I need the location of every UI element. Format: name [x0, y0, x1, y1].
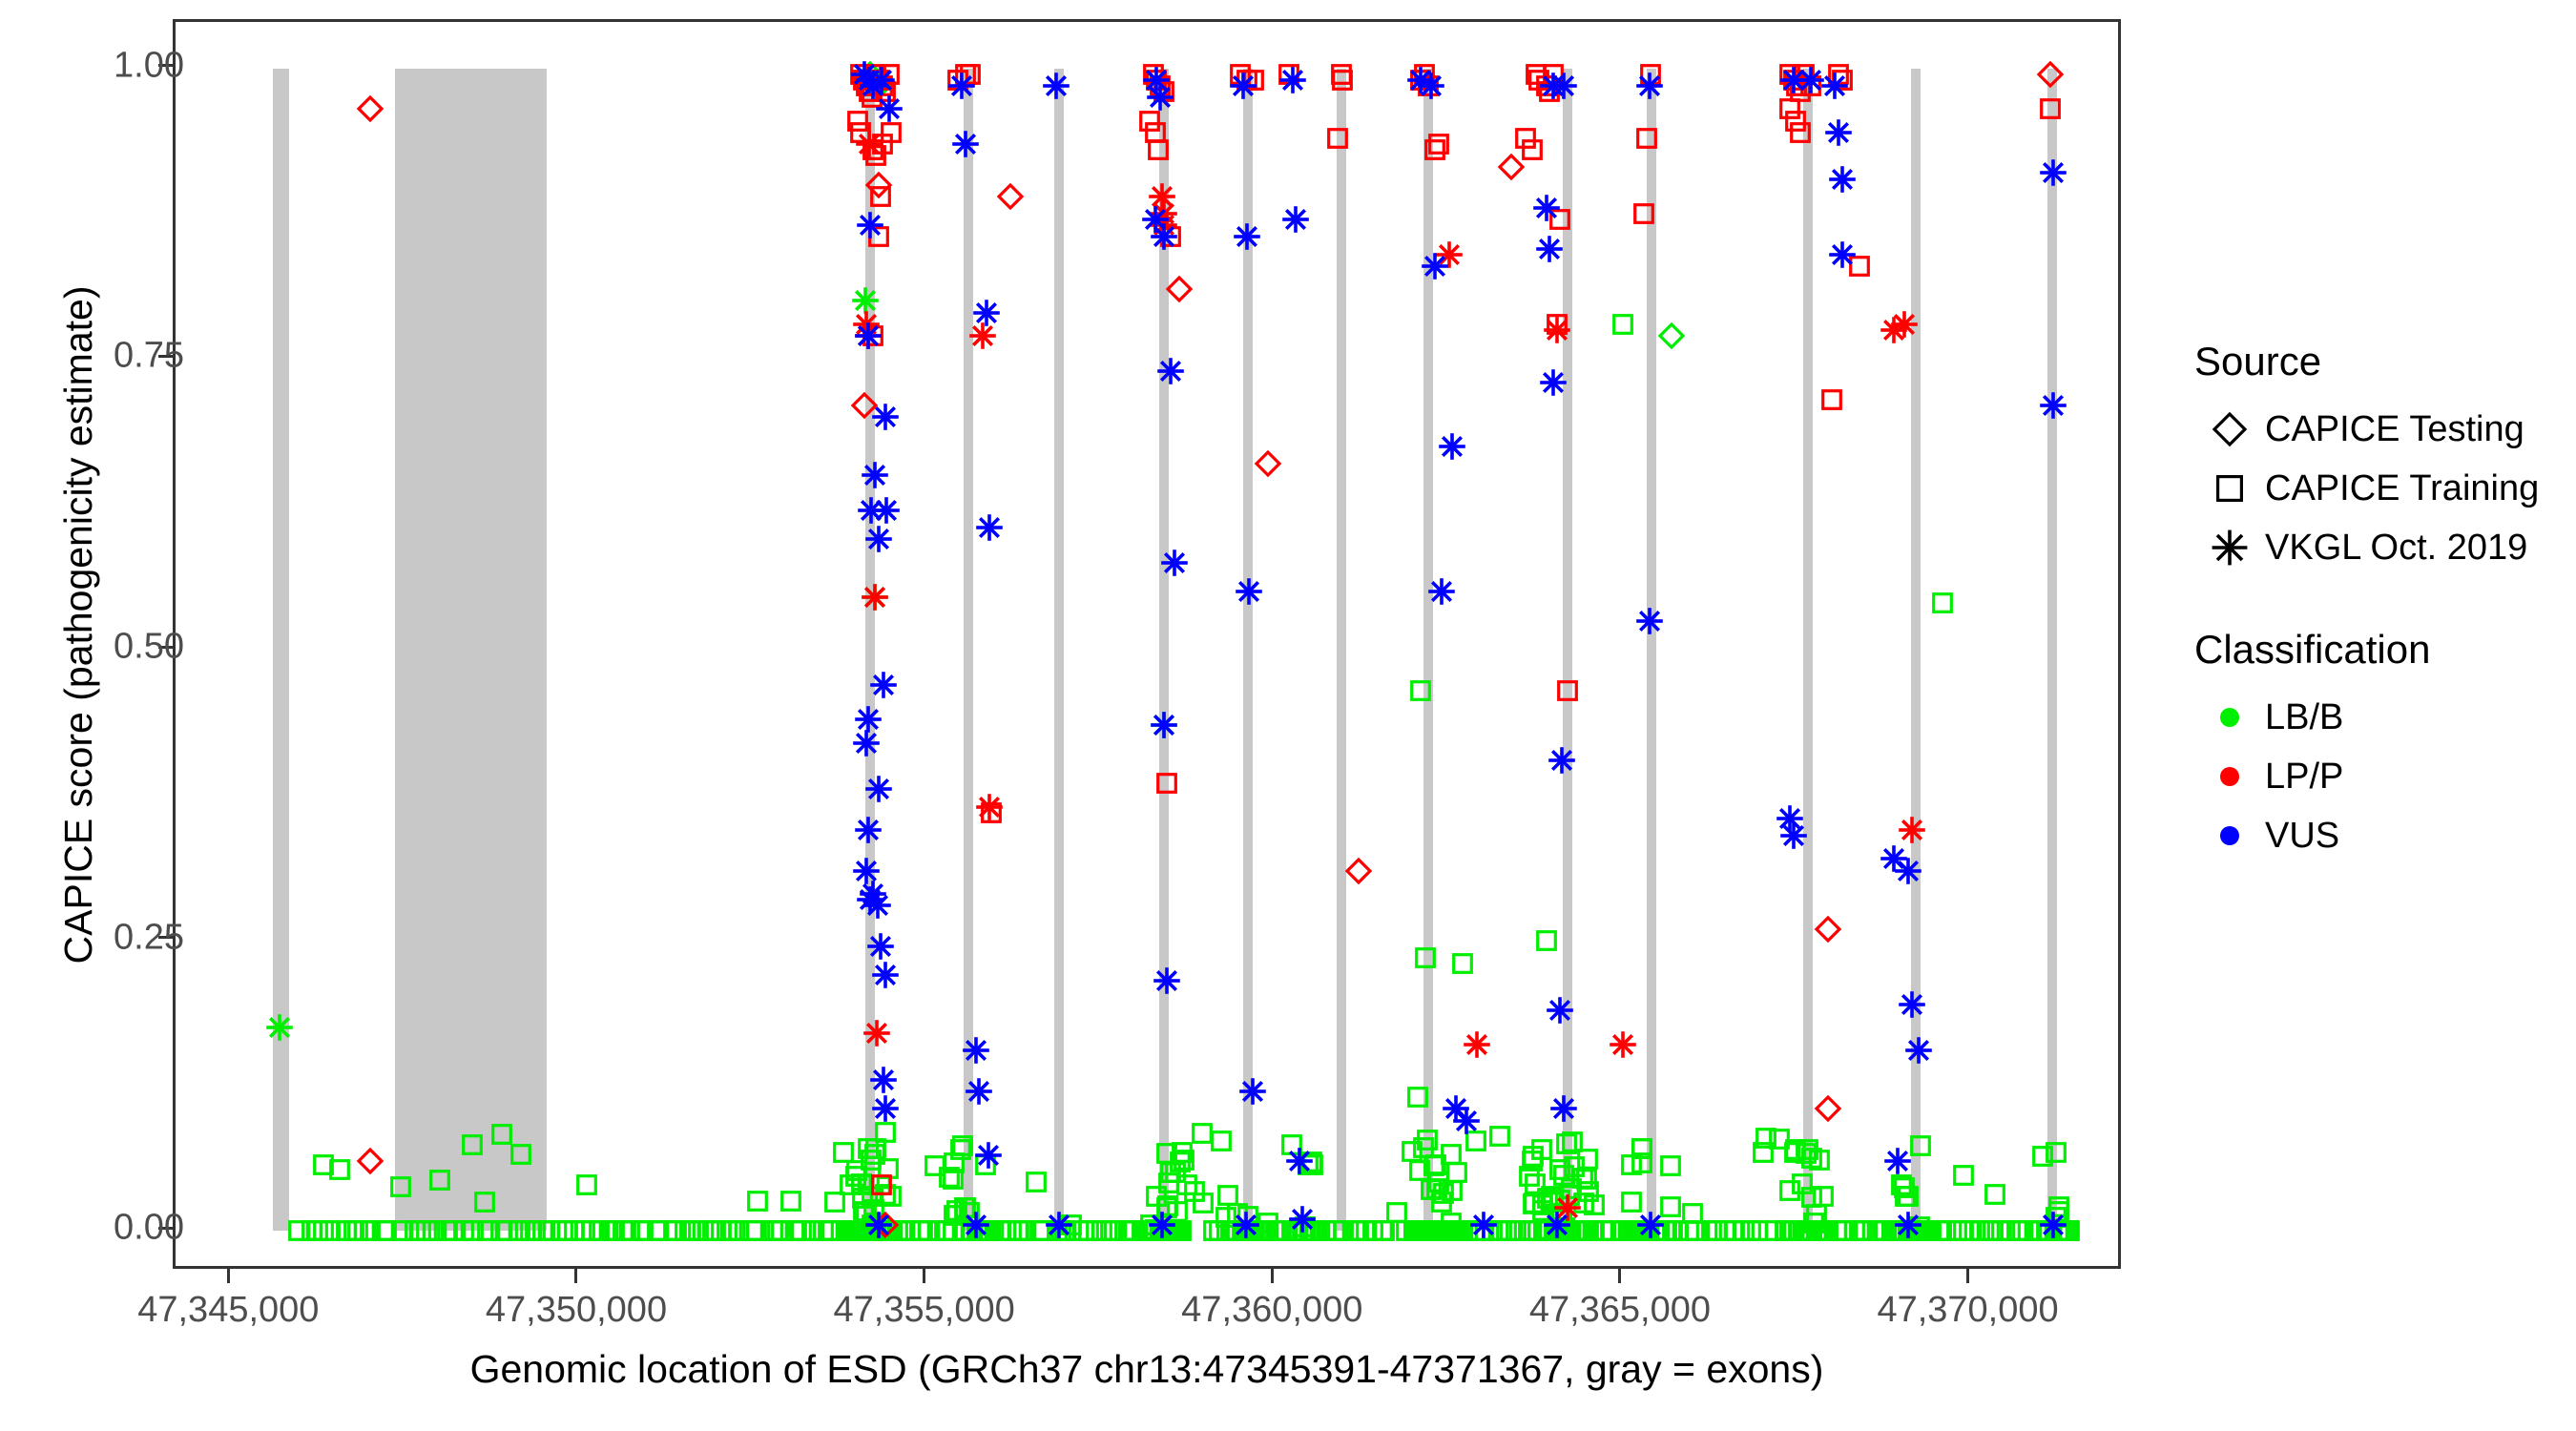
data-point — [1212, 1203, 1240, 1232]
data-point — [974, 1141, 1003, 1170]
data-point — [1291, 1216, 1319, 1245]
data-point — [1720, 1216, 1749, 1245]
data-point — [1537, 1188, 1566, 1216]
data-point — [325, 1155, 354, 1184]
data-point — [1658, 1216, 1687, 1245]
data-point — [1463, 1030, 1491, 1059]
y-tick-label: 0.50 — [0, 627, 184, 668]
data-point — [662, 1216, 691, 1245]
data-point — [1298, 1151, 1327, 1179]
data-point — [1344, 857, 1373, 885]
data-point — [1848, 1216, 1877, 1245]
data-point — [1881, 1216, 1910, 1245]
data-point — [1296, 1216, 1324, 1245]
exon-band — [865, 69, 875, 1232]
data-point — [1869, 1216, 1898, 1245]
data-point — [701, 1216, 730, 1245]
data-point — [343, 1216, 372, 1245]
data-point — [1444, 1216, 1473, 1245]
data-point — [1949, 1216, 1978, 1245]
data-point — [1443, 1158, 1471, 1187]
data-point — [356, 1216, 384, 1245]
data-point — [303, 1216, 332, 1245]
data-point — [1253, 1216, 1281, 1245]
data-point — [976, 1216, 1005, 1245]
data-point — [821, 1188, 849, 1216]
data-point — [1569, 1189, 1598, 1217]
data-point — [1814, 915, 1842, 944]
data-point — [1167, 1216, 1195, 1245]
data-point — [1100, 1216, 1129, 1245]
data-point — [872, 1216, 901, 1245]
data-point — [777, 1187, 805, 1215]
data-point — [905, 1216, 934, 1245]
data-point — [1132, 1216, 1160, 1245]
data-point — [1568, 1164, 1597, 1192]
data-point — [877, 118, 905, 147]
data-point — [1452, 1107, 1481, 1135]
exon-band — [964, 69, 973, 1232]
data-point — [871, 403, 900, 431]
data-point — [1761, 1216, 1790, 1245]
data-point — [1532, 194, 1561, 222]
legend-group-classification: Classification LB/BLP/PVUS — [2194, 627, 2576, 865]
data-point — [1009, 1216, 1038, 1245]
data-point — [1532, 1216, 1561, 1245]
data-point — [1530, 1216, 1559, 1245]
data-point — [1573, 1216, 1602, 1245]
data-point — [1809, 1216, 1838, 1245]
x-tick-label: 47,360,000 — [1181, 1290, 1362, 1331]
data-point — [1088, 1216, 1116, 1245]
data-point — [1533, 1216, 1562, 1245]
data-point — [1532, 926, 1561, 955]
data-point — [1514, 1216, 1543, 1245]
data-point — [1514, 1216, 1543, 1245]
data-point — [1278, 66, 1307, 94]
data-point — [871, 1211, 900, 1239]
data-point — [1572, 1216, 1601, 1245]
data-point — [1502, 1216, 1530, 1245]
data-point — [2003, 1216, 2031, 1245]
data-point — [1207, 1127, 1236, 1155]
data-point — [1435, 1216, 1464, 1245]
legend-item-label: LB/B — [2265, 697, 2343, 738]
data-point — [1568, 1216, 1597, 1245]
data-point — [872, 1216, 901, 1245]
data-point — [1736, 1216, 1765, 1245]
data-point — [1814, 1216, 1842, 1245]
data-point — [1743, 1216, 1772, 1245]
data-point — [1288, 1205, 1317, 1234]
data-point — [1682, 1216, 1711, 1245]
data-point — [1170, 1146, 1198, 1174]
data-point — [1809, 1182, 1838, 1211]
data-point — [1466, 1216, 1495, 1245]
legend-item-label: CAPICE Training — [2265, 468, 2539, 509]
exon-band — [1563, 69, 1572, 1232]
data-point — [1697, 1216, 1726, 1245]
data-point — [609, 1216, 637, 1245]
data-point — [1765, 1125, 1794, 1153]
legend-item[interactable]: LB/B — [2194, 688, 2576, 747]
data-point — [553, 1216, 582, 1245]
data-point — [908, 1216, 937, 1245]
data-point — [1618, 1216, 1647, 1245]
data-point — [2008, 1216, 2037, 1245]
data-point — [1979, 1216, 2007, 1245]
data-point — [1965, 1216, 1994, 1245]
data-point — [1829, 1216, 1858, 1245]
data-point — [875, 1216, 904, 1245]
data-point — [1822, 1216, 1851, 1245]
data-point — [1514, 1216, 1543, 1245]
data-point — [298, 1216, 326, 1245]
data-point — [1478, 1216, 1506, 1245]
data-point — [1530, 1216, 1559, 1245]
data-point — [914, 1216, 943, 1245]
data-point — [742, 1216, 771, 1245]
data-point — [1752, 1124, 1780, 1152]
data-point — [972, 1216, 1001, 1245]
data-point — [2053, 1216, 2082, 1245]
exon-band — [1159, 69, 1169, 1232]
legend-item[interactable]: VUS — [2194, 806, 2576, 865]
data-point — [1622, 1216, 1651, 1245]
data-point — [809, 1216, 838, 1245]
data-point — [1368, 1216, 1397, 1245]
data-point — [1519, 1190, 1548, 1218]
data-point — [1262, 1216, 1291, 1245]
data-point — [1535, 235, 1564, 263]
data-point — [1845, 252, 1874, 280]
data-point — [1299, 1216, 1328, 1245]
data-point — [1214, 1181, 1242, 1210]
data-point — [1537, 1182, 1566, 1211]
data-point — [1772, 1216, 1800, 1245]
data-point — [829, 1138, 858, 1167]
data-point — [763, 1216, 792, 1245]
data-point — [1589, 1216, 1617, 1245]
data-point — [1615, 1216, 1644, 1245]
plot-area — [176, 22, 2118, 1266]
data-point — [1441, 1216, 1469, 1245]
data-point — [1344, 1216, 1373, 1245]
data-point — [1370, 1216, 1399, 1245]
data-point — [1678, 1199, 1707, 1228]
data-point — [836, 1216, 864, 1245]
data-point — [1004, 1216, 1032, 1245]
legend-item[interactable]: LP/P — [2194, 747, 2576, 806]
data-point — [1917, 1216, 1945, 1245]
legend-item-label: VUS — [2265, 816, 2339, 857]
data-point — [1275, 60, 1303, 89]
data-point — [986, 1216, 1014, 1245]
data-point — [1026, 1216, 1054, 1245]
data-point — [560, 1216, 589, 1245]
data-point — [1515, 1162, 1544, 1191]
data-point — [549, 1216, 577, 1245]
data-point — [676, 1216, 705, 1245]
data-point — [876, 1216, 904, 1245]
data-point — [1652, 1216, 1681, 1245]
data-point — [1818, 385, 1846, 414]
data-point — [1621, 1216, 1650, 1245]
data-point — [1840, 1216, 1869, 1245]
data-point — [1120, 1216, 1149, 1245]
data-point — [871, 1118, 900, 1147]
data-point — [356, 94, 384, 123]
data-point — [1519, 1142, 1548, 1171]
data-point — [1609, 1216, 1637, 1245]
data-point — [837, 1216, 865, 1245]
exon-band — [1911, 69, 1921, 1232]
data-point — [1828, 240, 1857, 269]
data-point — [1880, 844, 1908, 873]
data-point — [644, 1216, 673, 1245]
x-tick-mark — [1966, 1269, 1969, 1283]
data-point — [1528, 1191, 1557, 1219]
data-point — [1538, 1183, 1567, 1212]
data-point — [1535, 77, 1564, 106]
data-point — [1521, 1170, 1549, 1198]
data-point — [1533, 1184, 1562, 1213]
data-point — [684, 1216, 713, 1245]
data-point — [1261, 1216, 1290, 1245]
data-point — [1529, 1216, 1558, 1245]
exon-band — [395, 69, 548, 1232]
data-point — [1532, 1216, 1561, 1245]
data-point — [970, 1216, 999, 1245]
x-axis-title: Genomic location of ESD (GRCh37 chr13:47… — [173, 1347, 2121, 1392]
data-point — [1580, 1216, 1609, 1245]
data-point — [875, 60, 904, 89]
dot-icon — [2194, 757, 2265, 796]
data-point — [1814, 1094, 1842, 1123]
data-point — [1617, 1151, 1646, 1179]
data-point — [1949, 1161, 1978, 1190]
data-point — [871, 1216, 900, 1245]
data-point — [1568, 1216, 1597, 1245]
data-point — [877, 1182, 905, 1211]
data-point — [1254, 1209, 1282, 1237]
data-point — [1878, 1216, 1906, 1245]
data-point — [889, 1216, 918, 1245]
data-point — [758, 1216, 787, 1245]
exon-band — [1337, 69, 1346, 1232]
data-point — [1511, 124, 1540, 153]
data-point — [743, 1187, 772, 1215]
data-point — [871, 961, 900, 989]
legend-item[interactable]: CAPICE Training — [2194, 459, 2576, 518]
data-point — [1527, 1135, 1556, 1164]
data-point — [1168, 1138, 1196, 1167]
data-point — [600, 1216, 629, 1245]
data-point — [309, 1151, 338, 1179]
data-point — [1165, 1216, 1194, 1245]
diamond-outline-icon — [2194, 410, 2265, 448]
data-point — [1572, 1165, 1601, 1193]
data-point — [1574, 1216, 1603, 1245]
data-point — [1278, 1130, 1306, 1159]
data-point — [874, 1154, 903, 1183]
data-point — [1927, 1216, 1956, 1245]
data-point — [316, 1216, 344, 1245]
x-tick-mark — [923, 1269, 925, 1283]
data-point — [1609, 1030, 1637, 1059]
data-point — [1776, 804, 1804, 833]
data-point — [1281, 205, 1310, 234]
data-point — [1096, 1216, 1125, 1245]
data-point — [834, 1216, 862, 1245]
data-point — [1883, 1216, 1912, 1245]
data-point — [1165, 1216, 1194, 1245]
data-point — [1453, 1216, 1482, 1245]
data-point — [818, 1216, 846, 1245]
data-point — [871, 1180, 900, 1209]
data-point — [1435, 240, 1464, 269]
data-point — [1535, 1216, 1564, 1245]
exon-band — [1054, 69, 1064, 1232]
data-point — [1173, 1171, 1201, 1199]
data-point — [1828, 165, 1857, 194]
data-point — [572, 1171, 601, 1199]
data-point — [1131, 1216, 1159, 1245]
data-point — [833, 1216, 862, 1245]
data-point — [1942, 1216, 1971, 1245]
data-point — [1180, 1177, 1209, 1206]
data-point — [1515, 1216, 1544, 1245]
data-point — [971, 1216, 1000, 1245]
data-point — [1617, 1188, 1646, 1216]
legend-item[interactable]: VKGL Oct. 2019 — [2194, 518, 2576, 577]
data-point — [1438, 1216, 1466, 1245]
exon-band — [1647, 69, 1656, 1232]
data-point — [1955, 1216, 1984, 1245]
exon-band — [1243, 69, 1253, 1232]
dot-icon — [2194, 698, 2265, 736]
data-point — [1131, 1216, 1159, 1245]
data-point — [1657, 321, 1686, 350]
data-point — [675, 1216, 704, 1245]
data-point — [1703, 1216, 1732, 1245]
data-point — [873, 1216, 902, 1245]
data-point — [615, 1216, 644, 1245]
data-point — [975, 1216, 1004, 1245]
data-point — [767, 1216, 796, 1245]
data-point — [1663, 1216, 1692, 1245]
data-point — [814, 1216, 842, 1245]
data-point — [871, 77, 900, 106]
data-point — [309, 1216, 338, 1245]
square-outline-icon — [2194, 469, 2265, 508]
data-point — [369, 1216, 398, 1245]
dot-icon — [2194, 817, 2265, 855]
data-point — [1435, 1216, 1464, 1245]
data-point — [707, 1216, 736, 1245]
data-point — [1928, 589, 1957, 617]
x-tick-mark — [1271, 1269, 1274, 1283]
data-point — [1776, 94, 1804, 123]
data-point — [1300, 1216, 1329, 1245]
data-point — [1532, 72, 1561, 100]
legend-item-label: CAPICE Testing — [2265, 409, 2524, 450]
data-point — [1824, 118, 1853, 147]
data-point — [1851, 1216, 1880, 1245]
data-point — [332, 1216, 361, 1245]
data-point — [875, 94, 904, 123]
data-point — [782, 1216, 811, 1245]
data-point — [1749, 1138, 1777, 1167]
data-point — [834, 1216, 862, 1245]
x-tick-label: 47,370,000 — [1877, 1290, 2058, 1331]
data-point — [1884, 1216, 1913, 1245]
data-point — [1656, 1192, 1685, 1221]
data-point — [1442, 1216, 1470, 1245]
data-point — [1656, 1151, 1685, 1180]
data-point — [1772, 1216, 1800, 1245]
x-tick-mark — [227, 1269, 230, 1283]
data-point — [698, 1216, 727, 1245]
exon-band — [273, 69, 289, 1232]
data-point — [1431, 1216, 1460, 1245]
data-point — [1518, 1147, 1547, 1175]
data-point — [1580, 1191, 1609, 1219]
data-point — [930, 1216, 959, 1245]
data-point — [836, 1171, 864, 1199]
data-point — [1516, 1216, 1545, 1245]
data-point — [340, 1216, 368, 1245]
data-point — [1433, 1216, 1462, 1245]
data-point — [1297, 1216, 1325, 1245]
data-point — [724, 1216, 753, 1245]
data-point — [1398, 1137, 1426, 1166]
data-point — [1448, 949, 1477, 978]
data-point — [1518, 135, 1547, 164]
x-tick-label: 47,355,000 — [834, 1290, 1015, 1331]
data-point — [1447, 1216, 1476, 1245]
exon-band — [1803, 69, 1813, 1232]
data-point — [738, 1216, 767, 1245]
data-point — [1216, 1216, 1245, 1245]
data-point — [1205, 1216, 1234, 1245]
data-point — [713, 1216, 741, 1245]
data-point — [1289, 1216, 1318, 1245]
legend-item[interactable]: CAPICE Testing — [2194, 400, 2576, 459]
data-point — [1828, 66, 1857, 94]
data-point — [1128, 1216, 1156, 1245]
data-point — [1776, 1176, 1804, 1205]
asterisk-icon — [2194, 529, 2265, 567]
data-point — [597, 1216, 626, 1245]
x-tick-label: 47,345,000 — [137, 1290, 319, 1331]
exon-band — [1423, 69, 1433, 1232]
data-point — [787, 1216, 816, 1245]
data-point — [1987, 1216, 2016, 1245]
data-point — [1272, 1216, 1300, 1245]
data-point — [1596, 1216, 1625, 1245]
data-point — [1532, 1216, 1561, 1245]
legend-item-label: LP/P — [2265, 757, 2343, 798]
x-tick-mark — [1618, 1269, 1621, 1283]
data-point — [1981, 1180, 2009, 1209]
exon-band — [2047, 69, 2057, 1232]
data-point — [1288, 1216, 1317, 1245]
data-point — [977, 798, 1006, 827]
data-point — [1776, 1216, 1804, 1245]
data-point — [1213, 1216, 1241, 1245]
data-point — [921, 1151, 949, 1180]
